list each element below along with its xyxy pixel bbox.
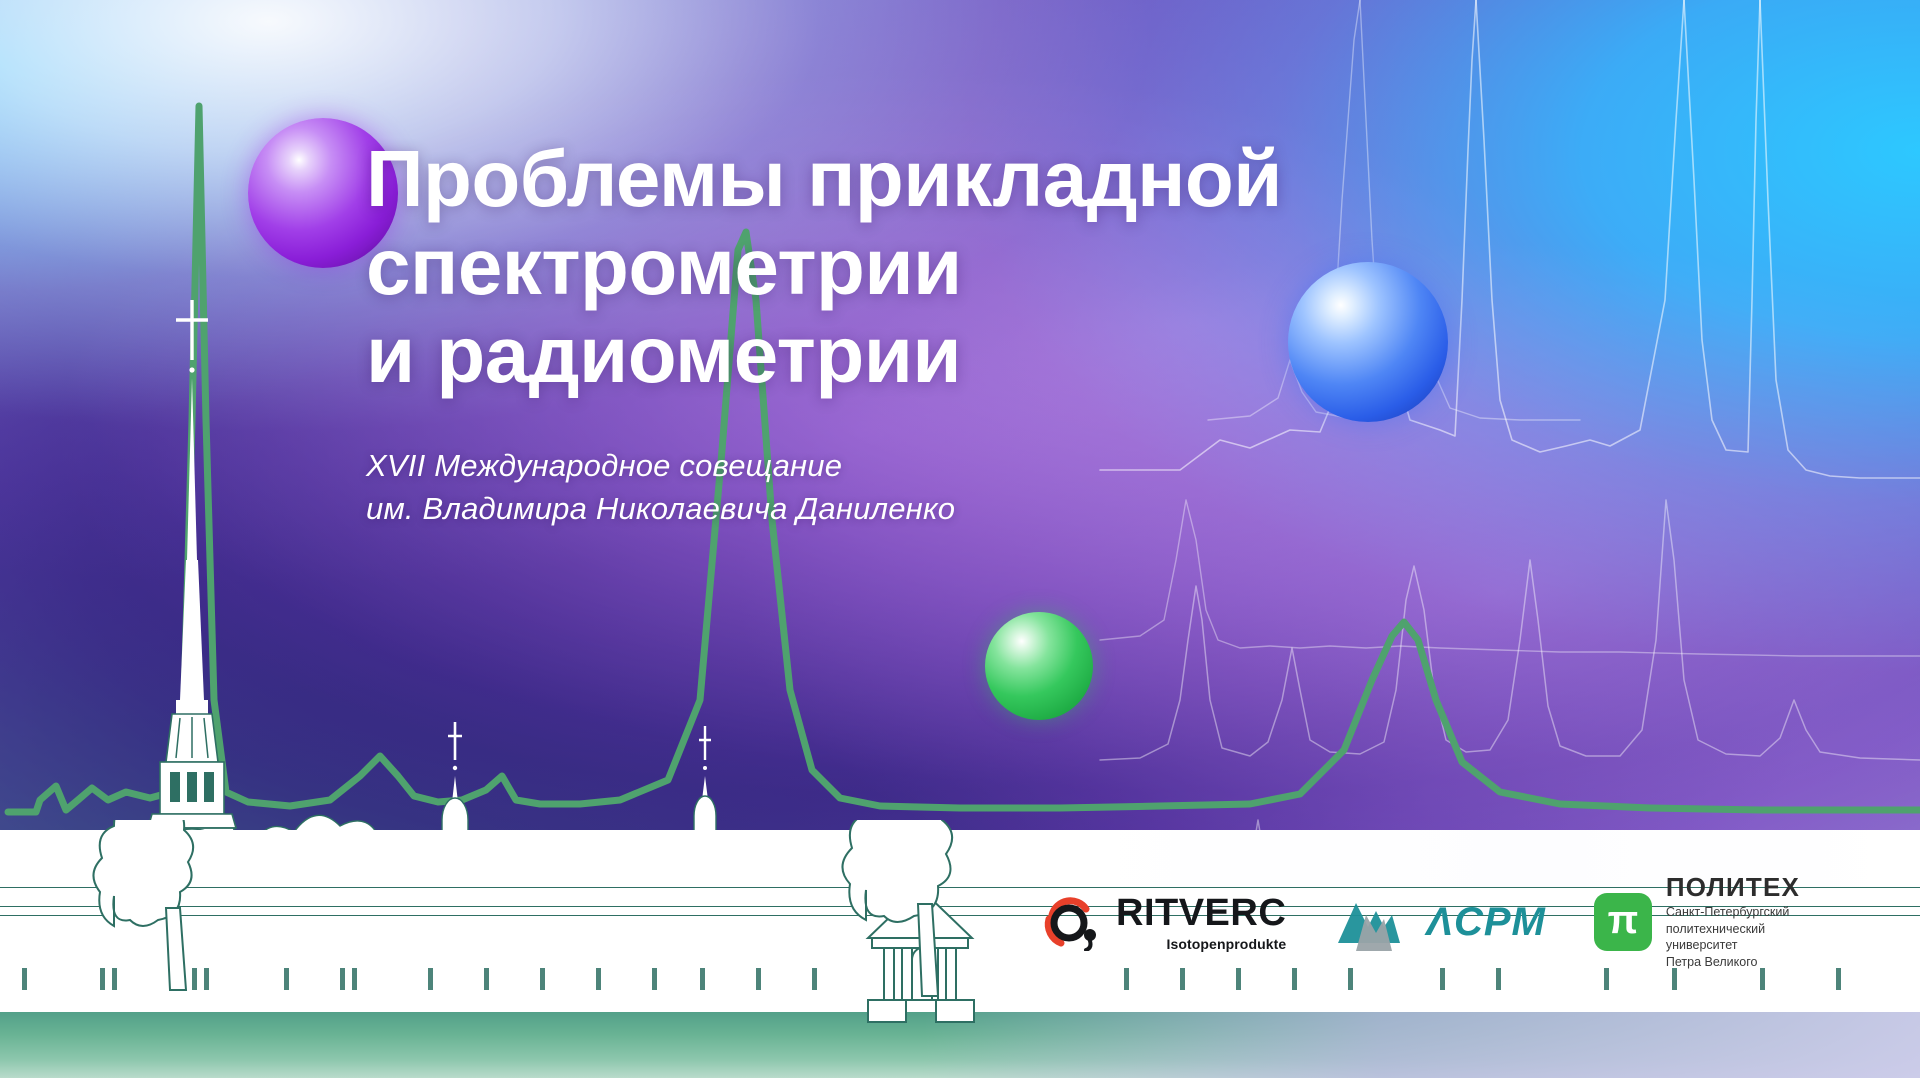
acpm-name: ΛCPM <box>1426 900 1546 945</box>
ritverc-name: RITVERC <box>1116 894 1286 932</box>
politech-name: ПОЛИТЕХ <box>1666 874 1840 900</box>
bottom-green-fade <box>0 1008 1920 1078</box>
ritverc-wordmark: RITVERC Isotopenprodukte <box>1116 894 1286 951</box>
politech-pi-mark: π <box>1594 893 1652 951</box>
sponsor-logos: RITVERC Isotopenprodukte ΛCPM π ПОЛИТЕХ … <box>1040 862 1840 982</box>
politech-subtitle: Санкт-Петербургский политехнический унив… <box>1666 904 1840 970</box>
page-title: Проблемы прикладной спектрометрии и ради… <box>366 135 1516 399</box>
logo-ritverc[interactable]: RITVERC Isotopenprodukte <box>1040 893 1286 951</box>
ritverc-atom-icon <box>1040 893 1102 951</box>
politech-pi-glyph: π <box>1608 900 1639 940</box>
green-sphere <box>985 612 1093 720</box>
logo-politech[interactable]: π ПОЛИТЕХ Санкт-Петербургский политехнич… <box>1594 874 1840 970</box>
page-subtitle: XVII Международное совещание им. Владими… <box>366 445 1516 531</box>
ritverc-tagline: Isotopenprodukte <box>1166 937 1286 951</box>
acpm-peaks-icon <box>1334 893 1412 951</box>
politech-wordmark: ПОЛИТЕХ Санкт-Петербургский политехничес… <box>1666 874 1840 970</box>
logo-acpm[interactable]: ΛCPM <box>1334 893 1546 951</box>
title-block: Проблемы прикладной спектрометрии и ради… <box>366 135 1516 531</box>
conference-poster: Проблемы прикладной спектрометрии и ради… <box>0 0 1920 1078</box>
